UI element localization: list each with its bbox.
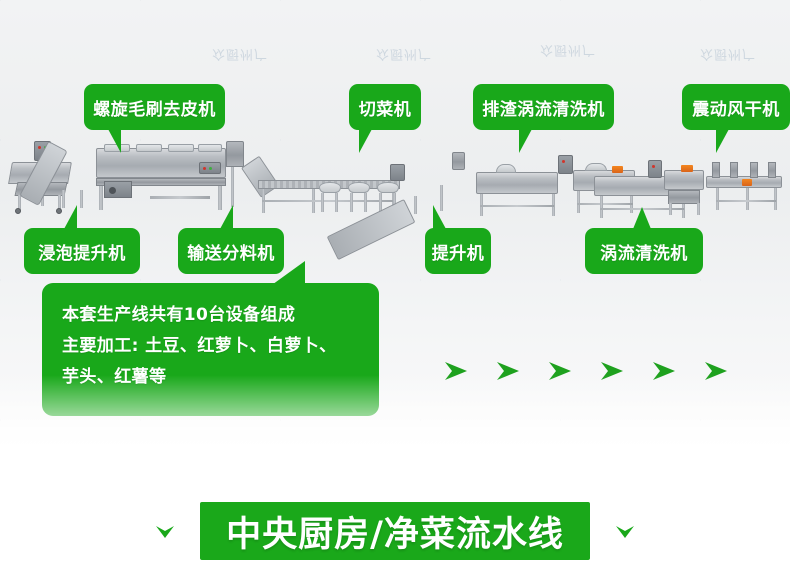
callout-vibration-air-dryer[interactable]: 震动风干机 (682, 84, 790, 130)
callout-spiral-brush-peeler[interactable]: 螺旋毛刷去皮机 (84, 84, 225, 130)
peeler-side-door (104, 181, 132, 198)
chevron-right-arrow-icon (651, 360, 677, 382)
chevron-right-arrow-icon (495, 360, 521, 382)
callout-label: 螺旋毛刷去皮机 (93, 95, 216, 120)
discharge-hopper (226, 141, 244, 167)
callout-elevator[interactable]: 提升机 (425, 228, 491, 274)
peeler-control-panel (199, 162, 221, 174)
callout-label: 提升机 (432, 239, 485, 264)
product-infographic: 众厨州广 众厨州广 众厨州广 众厨州广 (0, 0, 790, 583)
callout-vortex-washer[interactable]: 涡流清洗机 (585, 228, 703, 274)
peeler-lid (136, 144, 162, 152)
info-box: 本套生产线共有10台设备组成 主要加工: 土豆、红萝卜、白萝卜、 芋头、红薯等 (42, 283, 379, 416)
washer-control-panel (558, 155, 573, 174)
callout-label: 震动风干机 (692, 95, 780, 120)
production-line-photo-panel: 众厨州广 众厨州广 众厨州广 众厨州广 (0, 0, 790, 455)
banner-title: 中央厨房/净菜流水线 (200, 502, 590, 560)
callout-tail-vibration-air-dryer (716, 129, 729, 153)
work-station (347, 182, 371, 214)
callout-label: 切菜机 (359, 95, 412, 120)
machine-vibration-air-dryer (706, 158, 782, 216)
callout-tail-elevator (433, 205, 446, 229)
chevron-down-icon-left (152, 518, 178, 544)
callout-tail-soak-elevator (64, 205, 77, 229)
watermark: 众厨州广 (540, 42, 596, 61)
callout-soak-elevator[interactable]: 浸泡提升机 (24, 228, 140, 274)
banner-title-text: 中央厨房/净菜流水线 (226, 506, 564, 557)
machine-dewatering-unit (664, 170, 704, 190)
info-line: 芋头、红薯等 (62, 362, 359, 393)
peeler-lid (168, 144, 194, 152)
chevron-right-arrow-icon (703, 360, 729, 382)
dewater-valve (681, 165, 693, 172)
callout-tail-vegetable-cutter (359, 129, 372, 153)
watermark: 众厨州广 (700, 46, 756, 65)
callout-tail-conveyor-distributor (220, 205, 233, 229)
callout-label: 排渣涡流清洗机 (482, 95, 605, 120)
info-line: 主要加工: 土豆、红萝卜、白萝卜、 (62, 331, 359, 362)
callout-label: 输送分料机 (187, 239, 275, 264)
callout-slag-vortex-washer[interactable]: 排渣涡流清洗机 (473, 84, 614, 130)
chevron-right-arrow-icon (443, 360, 469, 382)
chevron-right-arrow-icon (547, 360, 573, 382)
watermark: 众厨州广 (376, 46, 432, 65)
machine-slag-vortex-washer (476, 172, 558, 194)
chevron-down-icon-right (612, 518, 638, 544)
washer-valve (612, 166, 623, 173)
callout-tail-slag-vortex-washer (519, 129, 532, 153)
chevron-right-arrow-icon (599, 360, 625, 382)
callout-tail-vortex-washer (633, 207, 651, 229)
callout-tail-spiral-brush-peeler (108, 129, 121, 153)
machine-vegetable-cutter (390, 164, 405, 181)
caster-wheel (15, 208, 21, 214)
transfer-conveyor (241, 156, 279, 198)
bottom-banner-row: 中央厨房/净菜流水线 (0, 498, 790, 564)
callout-label: 涡流清洗机 (600, 239, 688, 264)
peeler-lid (198, 144, 222, 152)
caster-wheel (56, 208, 62, 214)
callout-vegetable-cutter[interactable]: 切菜机 (349, 84, 421, 130)
callout-label: 浸泡提升机 (38, 239, 126, 264)
info-line: 本套生产线共有10台设备组成 (62, 300, 359, 331)
watermark: 众厨州广 (212, 46, 268, 65)
vortex-control-panel (648, 160, 662, 178)
dryer-valve (742, 179, 752, 186)
work-station (318, 182, 342, 214)
